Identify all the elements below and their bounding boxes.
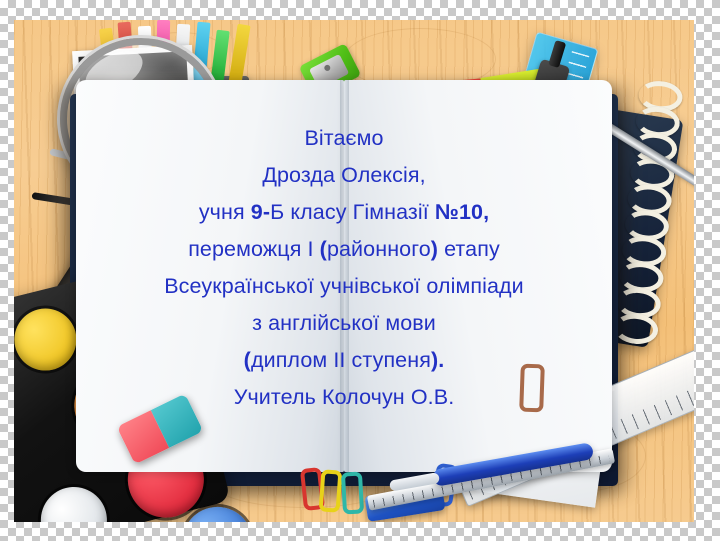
paper-clip-yellow <box>319 469 343 512</box>
message-line: Всеукраїнської учнівської олімпіади <box>76 268 612 305</box>
message-line: з англійської мови <box>76 305 612 342</box>
paint-pan-yellow <box>14 302 83 377</box>
paper-clip-copper <box>519 364 545 413</box>
message-line: переможця I (районного) етапу <box>76 231 612 268</box>
paint-pan-white <box>34 480 114 522</box>
message-line: учня 9-Б класу Гімназії №10, <box>76 194 612 231</box>
message-line: Дрозда Олексія, <box>76 157 612 194</box>
artwork-plate: Вітаємо Дрозда Олексія, учня 9-Б класу Г… <box>14 20 694 522</box>
message-line: Вітаємо <box>76 120 612 157</box>
paper-clip-teal <box>341 471 364 514</box>
transparency-canvas: Вітаємо Дрозда Олексія, учня 9-Б класу Г… <box>0 0 720 541</box>
